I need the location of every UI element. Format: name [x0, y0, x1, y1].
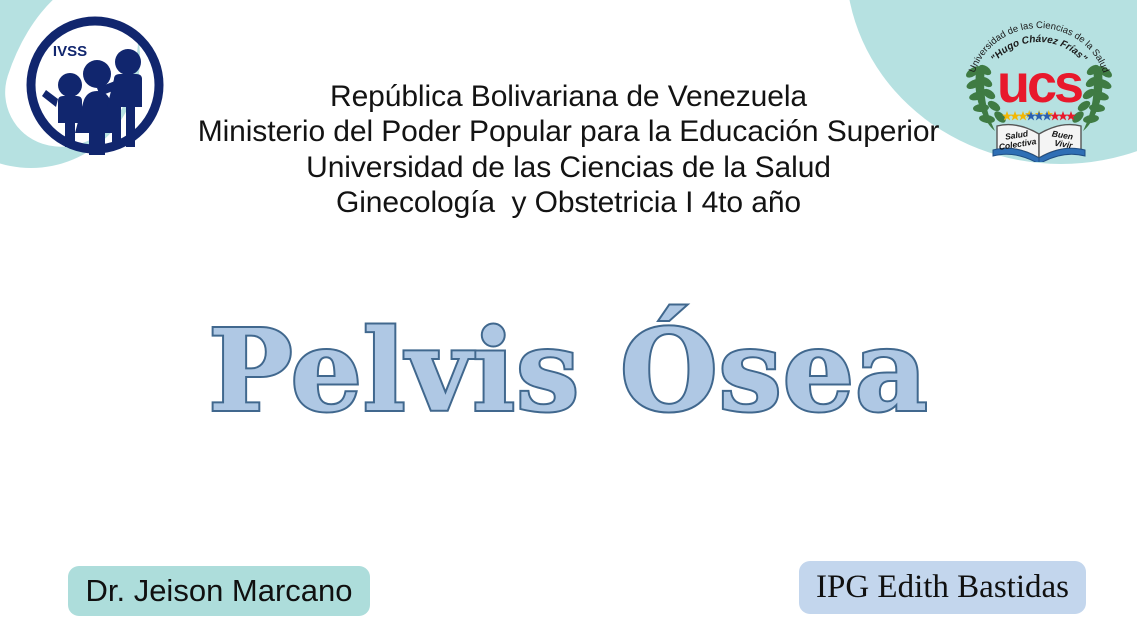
- slide-title: Pelvis Ósea: [0, 316, 1137, 428]
- header-line-country: República Bolivariana de Venezuela: [0, 79, 1137, 114]
- institution-header: República Bolivariana de Venezuela Minis…: [0, 79, 1137, 221]
- header-line-university: Universidad de las Ciencias de la Salud: [0, 150, 1137, 185]
- presenter-pill-right: IPG Edith Bastidas: [799, 561, 1086, 614]
- presenter-pill-left: Dr. Jeison Marcano: [68, 566, 370, 616]
- header-line-course: Ginecología y Obstetricia I 4to año: [0, 185, 1137, 220]
- header-line-ministry: Ministerio del Poder Popular para la Edu…: [0, 114, 1137, 149]
- slide-canvas: IVSS: [0, 0, 1137, 640]
- slide-title-text: Pelvis Ósea: [208, 316, 928, 428]
- presenter-name-right: IPG Edith Bastidas: [816, 569, 1069, 606]
- ivss-acronym-text: IVSS: [53, 43, 87, 60]
- presenter-name-left: Dr. Jeison Marcano: [85, 573, 352, 609]
